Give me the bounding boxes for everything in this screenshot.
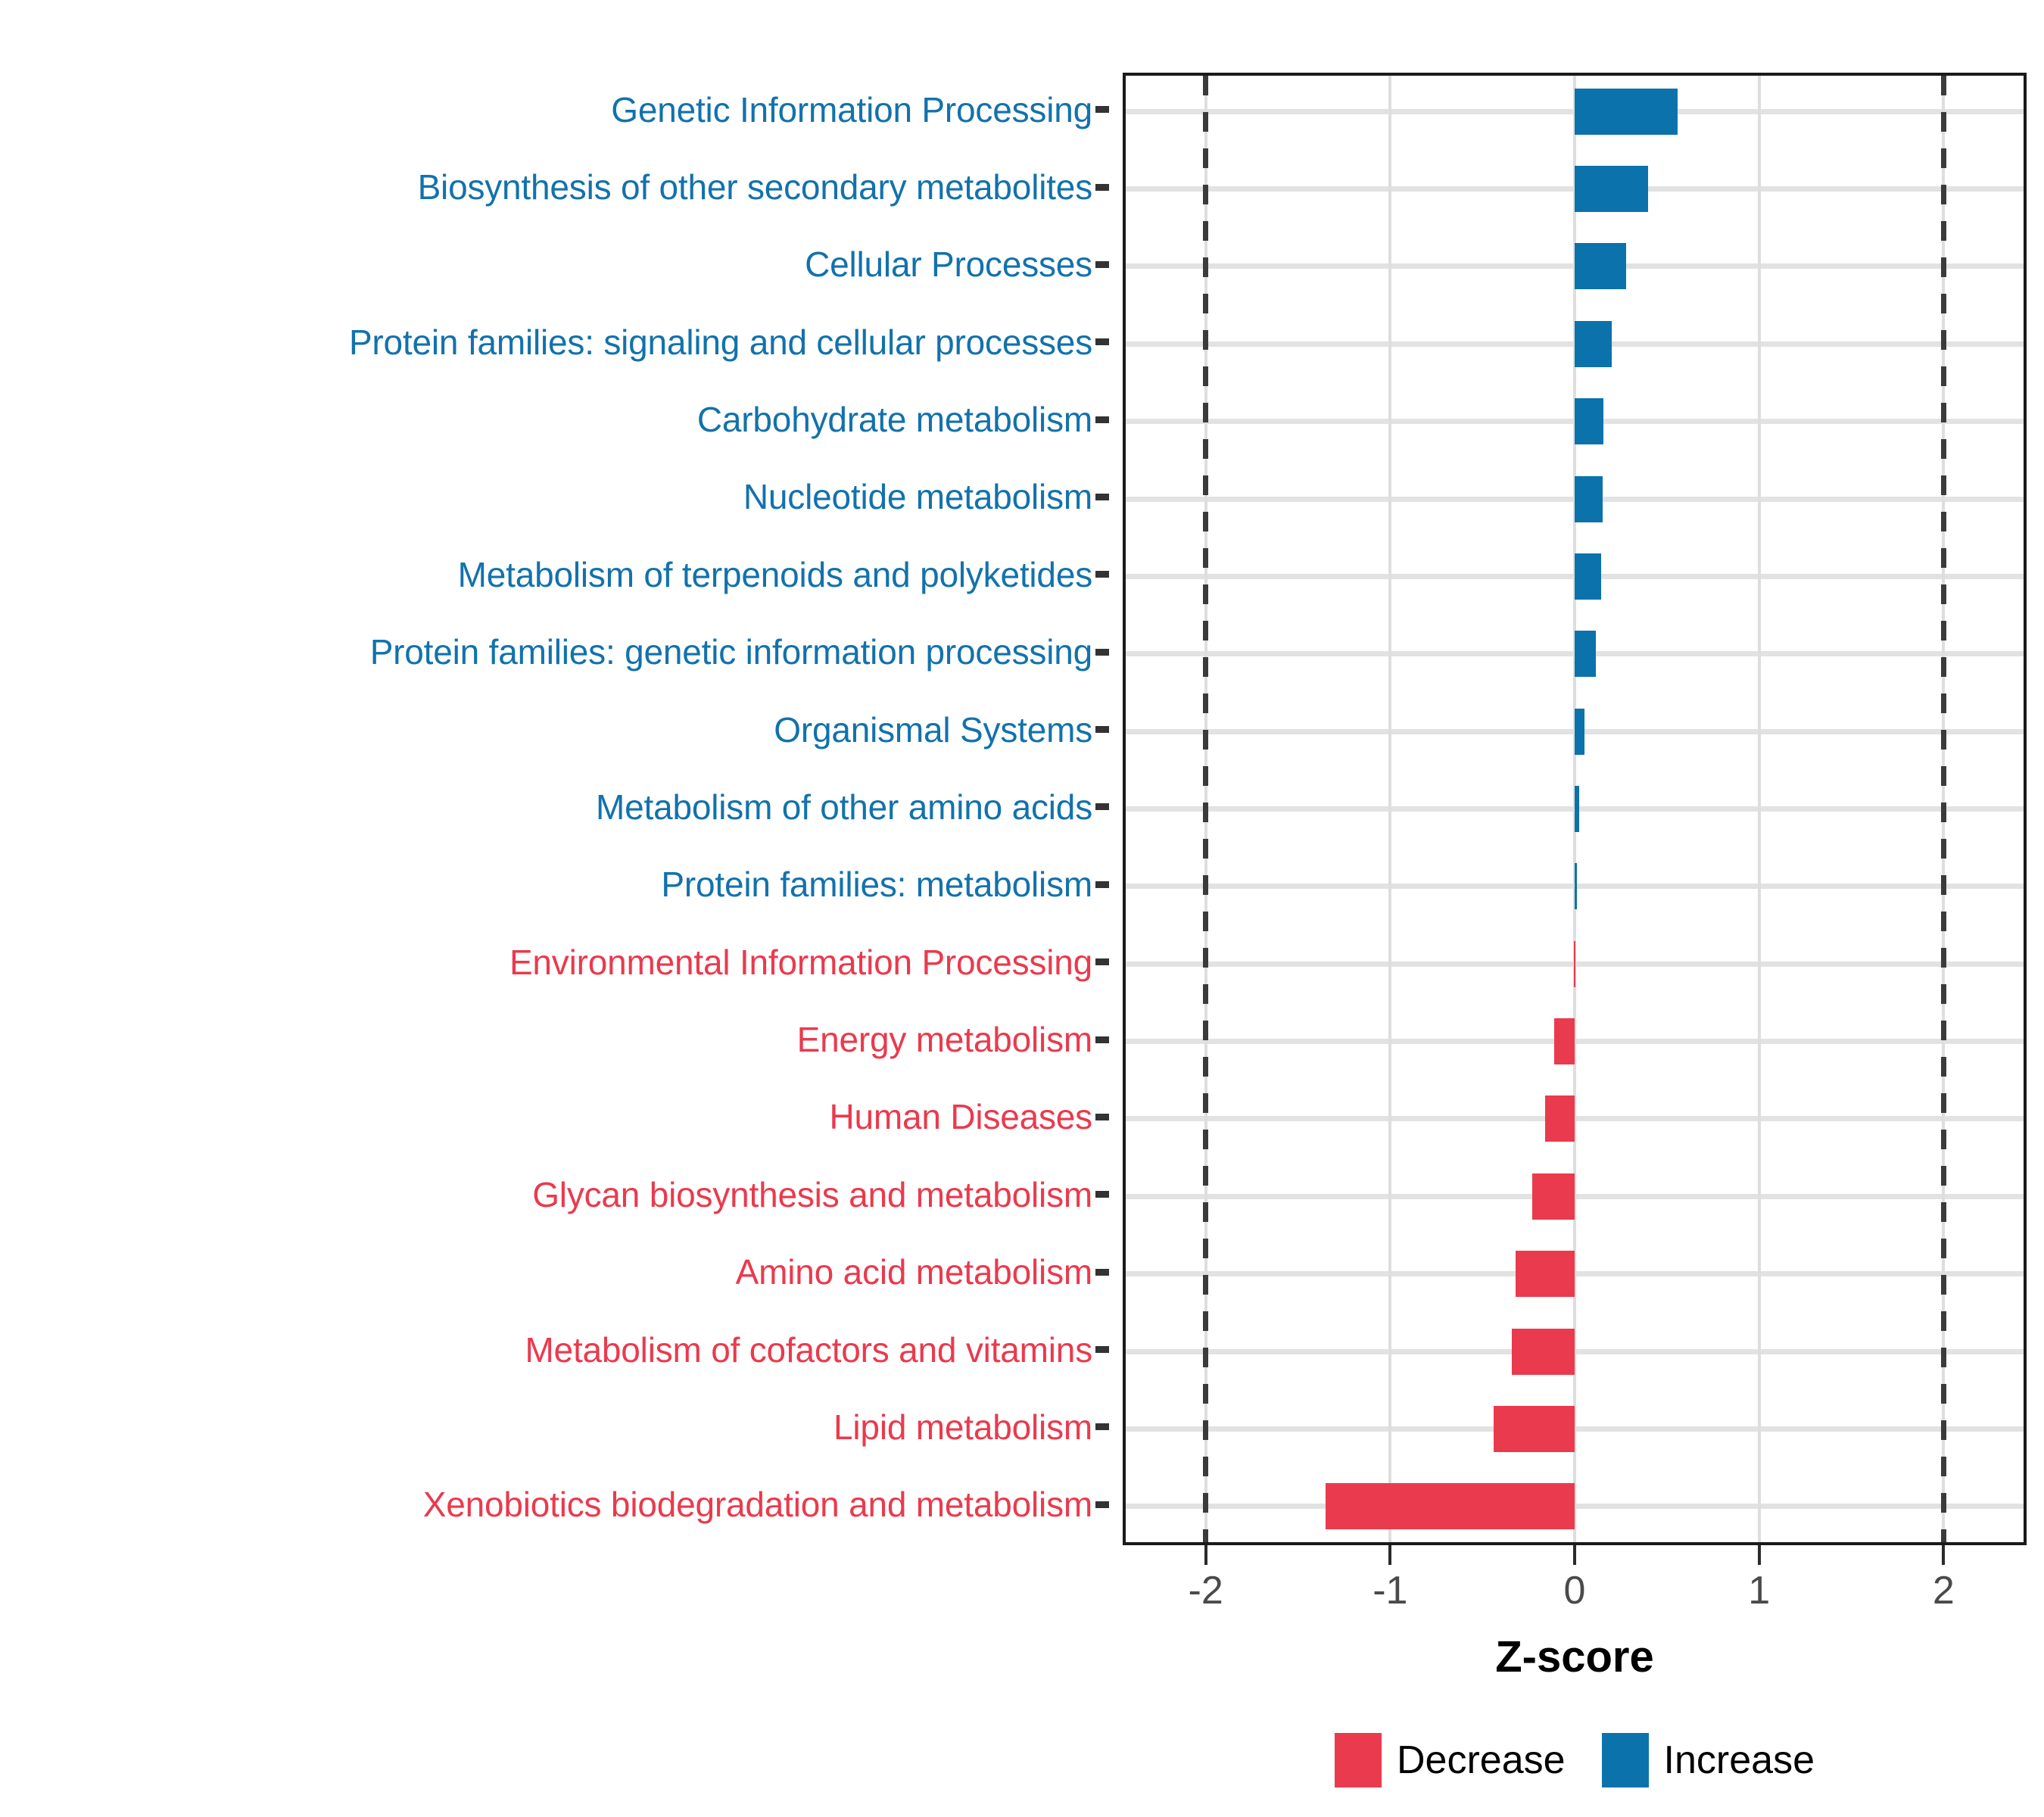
x-axis-tick [1388, 1545, 1391, 1565]
category-label: Protein families: genetic information pr… [370, 634, 1095, 669]
x-axis-tick-label: -2 [1189, 1568, 1223, 1613]
category-label-row: Lipid metabolism [0, 1390, 1109, 1463]
category-label-row: Carbohydrate metabolism [0, 382, 1109, 456]
bar[interactable] [1575, 321, 1612, 367]
chart-root: Genetic Information ProcessingBiosynthes… [0, 0, 2044, 1817]
y-axis-tick [1095, 881, 1109, 888]
y-axis-tick [1095, 571, 1109, 578]
category-label: Metabolism of cofactors and vitamins [525, 1332, 1095, 1367]
y-axis-tick [1095, 1114, 1109, 1120]
category-label-row: Protein families: signaling and cellular… [0, 305, 1109, 379]
category-label: Human Diseases [830, 1099, 1095, 1134]
y-axis-tick [1095, 1036, 1109, 1043]
legend-item-increase[interactable]: Increase [1602, 1733, 1815, 1787]
category-label-row: Xenobiotics biodegradation and metabolis… [0, 1468, 1109, 1541]
bar[interactable] [1532, 1173, 1575, 1220]
y-axis-tick [1095, 958, 1109, 965]
bar[interactable] [1575, 631, 1596, 677]
bar[interactable] [1554, 1018, 1575, 1064]
category-label-row: Genetic Information Processing [0, 73, 1109, 146]
bar[interactable] [1575, 89, 1678, 135]
bar[interactable] [1516, 1251, 1575, 1297]
bar[interactable] [1545, 1095, 1575, 1142]
y-axis-tick [1095, 1346, 1109, 1353]
x-axis-tick [1942, 1545, 1945, 1565]
category-label: Metabolism of terpenoids and polyketides [458, 557, 1095, 592]
category-label-row: Environmental Information Processing [0, 925, 1109, 999]
x-axis-tick-label: 1 [1748, 1568, 1770, 1613]
bar[interactable] [1575, 863, 1577, 909]
bar[interactable] [1575, 553, 1601, 600]
x-axis-tick-label: -1 [1373, 1568, 1407, 1613]
category-label: Genetic Information Processing [611, 92, 1095, 127]
category-label: Energy metabolism [797, 1022, 1095, 1057]
category-label-row: Energy metabolism [0, 1002, 1109, 1076]
y-axis-tick [1095, 184, 1109, 191]
category-label: Carbohydrate metabolism [697, 402, 1095, 437]
legend-swatch-decrease [1335, 1733, 1382, 1787]
bar[interactable] [1575, 243, 1626, 289]
bar[interactable] [1575, 166, 1648, 212]
bar[interactable] [1575, 476, 1603, 522]
x-axis-tick [1758, 1545, 1761, 1565]
y-axis-tick [1095, 1423, 1109, 1430]
y-axis-tick [1095, 416, 1109, 423]
x-axis-tick [1573, 1545, 1576, 1565]
bar[interactable] [1494, 1406, 1575, 1452]
category-label: Amino acid metabolism [736, 1254, 1095, 1289]
y-axis-tick [1095, 261, 1109, 268]
category-label-row: Glycan biosynthesis and metabolism [0, 1158, 1109, 1231]
bar[interactable] [1512, 1329, 1575, 1375]
vertical-gridline [1388, 76, 1391, 1542]
y-axis-tick [1095, 1191, 1109, 1198]
chart-legend: Decrease Increase [1123, 1726, 2027, 1794]
y-axis-tick [1095, 726, 1109, 733]
y-axis-tick [1095, 1269, 1109, 1276]
category-label: Cellular Processes [805, 247, 1095, 282]
category-label-row: Metabolism of other amino acids [0, 770, 1109, 843]
legend-label-decrease: Decrease [1397, 1738, 1566, 1783]
reference-dashed-line [1941, 76, 1946, 1542]
bar[interactable] [1575, 398, 1603, 444]
bar[interactable] [1574, 941, 1575, 987]
category-label: Protein families: signaling and cellular… [349, 325, 1095, 360]
y-axis-tick [1095, 338, 1109, 345]
category-label: Lipid metabolism [833, 1410, 1095, 1445]
legend-label-increase: Increase [1664, 1738, 1815, 1783]
bar[interactable] [1575, 709, 1584, 755]
vertical-gridline [1758, 76, 1761, 1542]
category-label-row: Nucleotide metabolism [0, 460, 1109, 534]
category-label-row: Protein families: metabolism [0, 848, 1109, 921]
category-label-row: Metabolism of cofactors and vitamins [0, 1313, 1109, 1386]
category-label: Nucleotide metabolism [743, 479, 1095, 514]
y-axis-tick [1095, 649, 1109, 656]
category-label: Biosynthesis of other secondary metaboli… [418, 170, 1095, 204]
x-axis-tick-label: 2 [1933, 1568, 1955, 1613]
category-label: Organismal Systems [774, 712, 1095, 747]
x-axis-title: Z-score [1123, 1632, 2027, 1682]
y-axis-tick [1095, 106, 1109, 113]
bar[interactable] [1575, 786, 1579, 832]
category-label-row: Protein families: genetic information pr… [0, 616, 1109, 689]
category-label: Xenobiotics biodegradation and metabolis… [423, 1487, 1095, 1522]
reference-dashed-line [1203, 76, 1208, 1542]
legend-item-decrease[interactable]: Decrease [1335, 1733, 1566, 1787]
category-label-row: Human Diseases [0, 1080, 1109, 1154]
category-label: Protein families: metabolism [661, 867, 1095, 902]
x-axis-tick [1204, 1545, 1207, 1565]
category-label: Environmental Information Processing [509, 945, 1095, 980]
category-label: Glycan biosynthesis and metabolism [532, 1177, 1095, 1212]
bar[interactable] [1326, 1483, 1575, 1529]
category-label: Metabolism of other amino acids [596, 790, 1095, 824]
category-label-row: Organismal Systems [0, 693, 1109, 766]
y-axis-tick [1095, 803, 1109, 810]
legend-swatch-increase [1602, 1733, 1649, 1787]
y-axis-tick [1095, 494, 1109, 500]
x-axis-tick-label: 0 [1564, 1568, 1586, 1613]
category-label-row: Amino acid metabolism [0, 1236, 1109, 1309]
category-label-row: Metabolism of terpenoids and polyketides [0, 538, 1109, 611]
plot-panel [1123, 73, 2027, 1545]
category-label-row: Cellular Processes [0, 228, 1109, 301]
x-axis: -2-1012 [1123, 1545, 2027, 1636]
category-label-row: Biosynthesis of other secondary metaboli… [0, 150, 1109, 223]
y-axis-tick [1095, 1501, 1109, 1508]
category-label-column: Genetic Information ProcessingBiosynthes… [0, 73, 1109, 1545]
